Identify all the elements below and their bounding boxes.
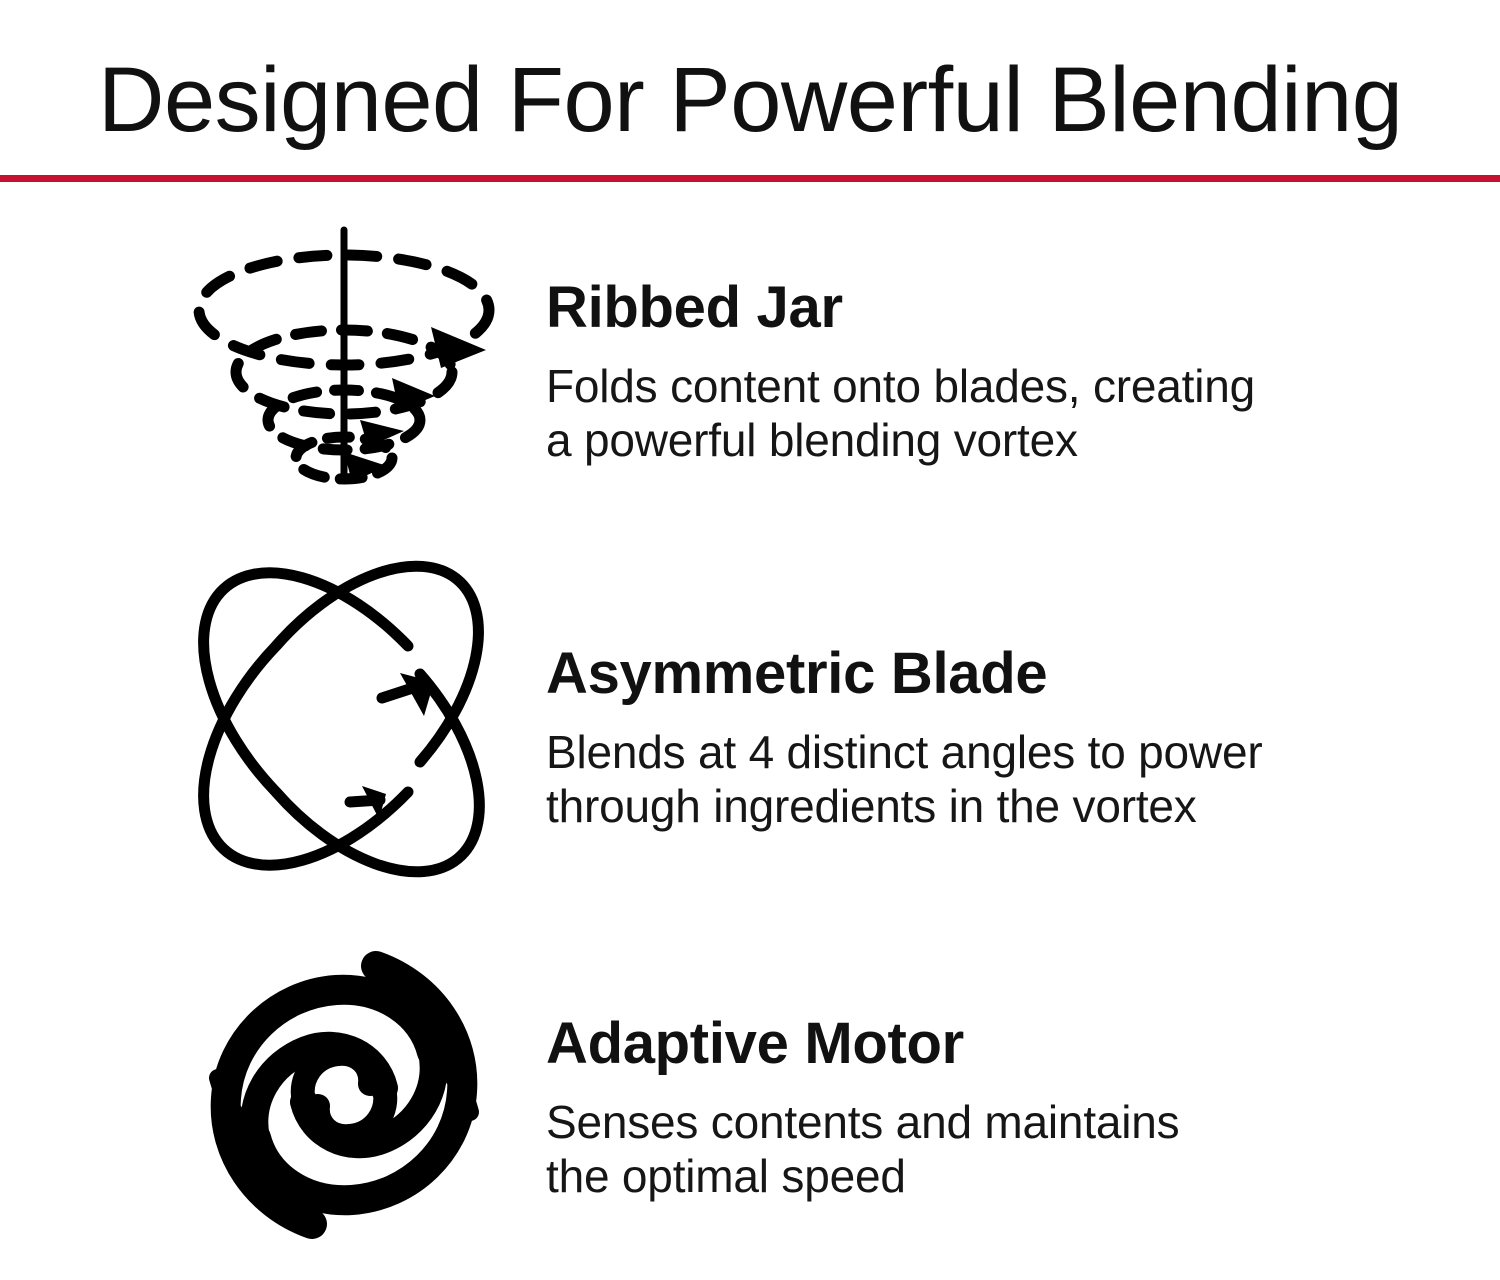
feature-description-line: the optimal speed xyxy=(546,1149,1306,1203)
vortex-funnel-icon xyxy=(192,230,496,516)
feature-description-line: Senses contents and maintains xyxy=(546,1095,1306,1149)
spiral-motor-icon xyxy=(200,952,488,1236)
feature-description: Blends at 4 distinct angles to power thr… xyxy=(546,725,1306,834)
feature-description: Folds content onto blades, creating a po… xyxy=(546,359,1306,468)
feature-heading: Ribbed Jar xyxy=(546,278,1306,339)
feature-text-block: Asymmetric Blade Blends at 4 distinct an… xyxy=(546,644,1306,833)
header-divider-rule xyxy=(0,175,1500,182)
feature-text-block: Adaptive Motor Senses contents and maint… xyxy=(546,1014,1306,1203)
feature-description-line: through ingredients in the vortex xyxy=(546,779,1306,833)
feature-item-asymmetric-blade: Asymmetric Blade Blends at 4 distinct an… xyxy=(0,548,1500,914)
feature-item-adaptive-motor: Adaptive Motor Senses contents and maint… xyxy=(0,914,1500,1280)
feature-heading: Adaptive Motor xyxy=(546,1014,1306,1075)
feature-heading: Asymmetric Blade xyxy=(546,644,1306,705)
feature-text-block: Ribbed Jar Folds content onto blades, cr… xyxy=(546,278,1306,467)
feature-item-ribbed-jar: Ribbed Jar Folds content onto blades, cr… xyxy=(0,182,1500,548)
feature-description-line: Folds content onto blades, creating xyxy=(546,359,1306,413)
feature-description: Senses contents and maintains the optima… xyxy=(546,1095,1306,1204)
feature-description-line: a powerful blending vortex xyxy=(546,413,1306,467)
page-header: Designed For Powerful Blending xyxy=(0,0,1500,176)
feature-description-line: Blends at 4 distinct angles to power xyxy=(546,725,1306,779)
feature-list: Ribbed Jar Folds content onto blades, cr… xyxy=(0,182,1500,1278)
crossed-orbits-blade-icon xyxy=(222,610,462,826)
page-title: Designed For Powerful Blending xyxy=(98,54,1402,146)
